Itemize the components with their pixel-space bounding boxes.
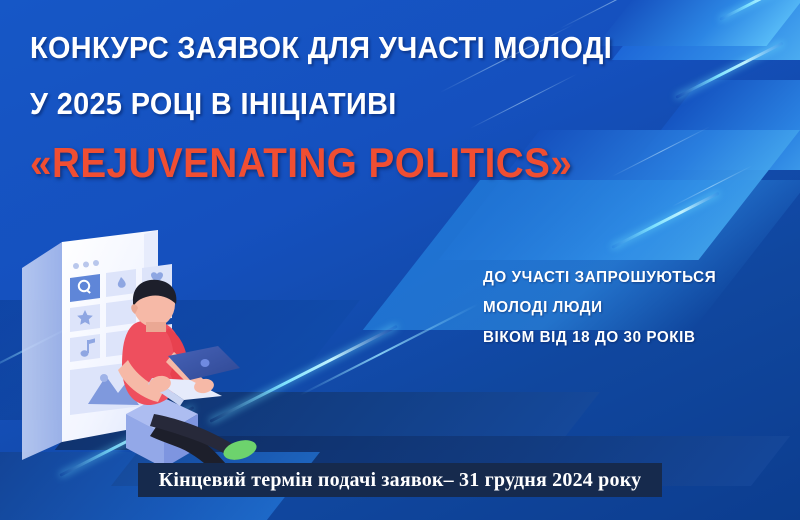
deadline-text: Кінцевий термін подачі заявок– 31 грудня… — [159, 469, 642, 492]
poster-canvas: Конкурс заявок для участі молоді у 2025 … — [0, 0, 800, 520]
shoe-front — [221, 437, 259, 464]
panel-shadow — [22, 242, 62, 460]
bg-shape-2 — [596, 0, 800, 46]
tile-search — [70, 274, 100, 302]
headline-line-2: у 2025 році в ініціативі — [30, 76, 551, 132]
illustration-person-laptop — [8, 228, 308, 478]
invitation-line-2: молоді люди — [483, 293, 716, 323]
initiative-title: «Rejuvenating Politics» — [30, 140, 572, 186]
invitation-line-3: віком від 18 до 30 років — [483, 323, 716, 353]
deadline-banner: Кінцевий термін подачі заявок– 31 грудня… — [138, 463, 662, 497]
invitation-line-1: До участі запрошуються — [483, 263, 716, 293]
tile-blank-1 — [106, 299, 136, 327]
tile-music — [70, 334, 100, 362]
invitation-block: До участі запрошуються молоді люди віком… — [483, 263, 716, 353]
page-title: Конкурс заявок для участі молоді у 2025 … — [30, 20, 551, 132]
headline-line-1: Конкурс заявок для участі молоді — [30, 30, 612, 65]
